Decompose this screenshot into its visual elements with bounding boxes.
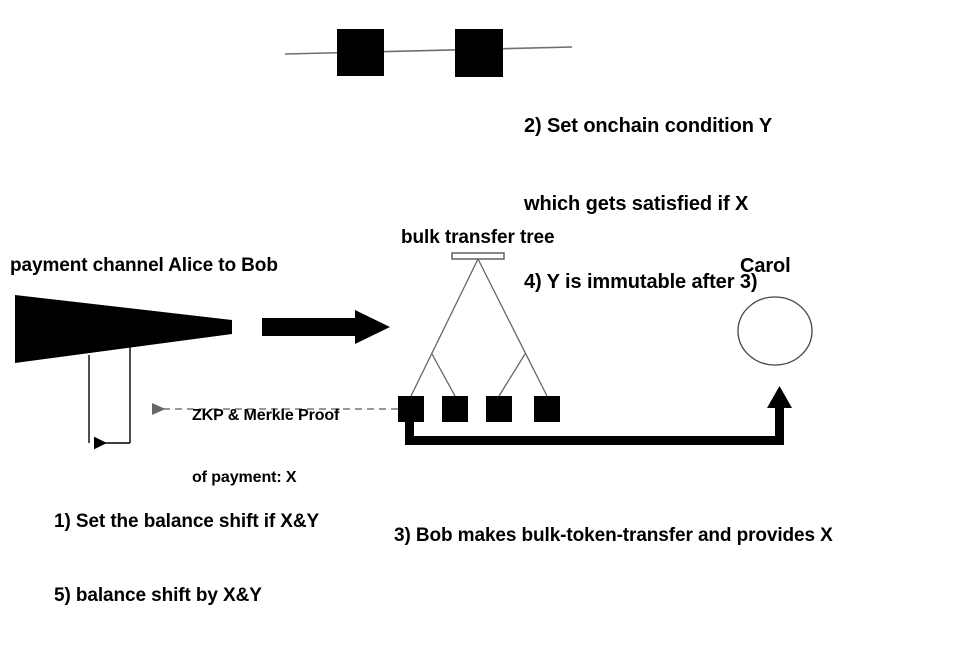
zkp-label-line-1: ZKP & Merkle Proof xyxy=(192,406,339,427)
balance-shift-note: 1) Set the balance shift if X&Y 5) balan… xyxy=(54,461,319,659)
balance-shift-bracket xyxy=(89,347,130,443)
onchain-note-line-1: 2) Set onchain condition Y xyxy=(524,113,772,139)
tree-edge-right-inner xyxy=(499,354,525,396)
tree-leaf-4 xyxy=(534,396,560,422)
onchain-note-line-2: which gets satisfied if X xyxy=(524,191,772,217)
bulk-token-transfer-note-line-1: 3) Bob makes bulk-token-transfer and pro… xyxy=(394,524,833,549)
transfer-arrow-right xyxy=(262,310,390,344)
payment-channel-label: payment channel Alice to Bob xyxy=(10,254,278,279)
tree-leaf-3 xyxy=(486,396,512,422)
balance-shift-note-line-1: 1) Set the balance shift if X&Y xyxy=(54,510,319,535)
diagram-canvas: 2) Set onchain condition Y which gets sa… xyxy=(0,0,960,540)
transfer-arrow-group xyxy=(262,310,390,344)
tree-root-node xyxy=(452,253,504,259)
tree-leaf-1 xyxy=(398,396,424,422)
connector-horizontal-bar xyxy=(405,436,784,445)
tree-leaf-2 xyxy=(442,396,468,422)
bulk-transfer-tree-label: bulk transfer tree xyxy=(401,226,554,251)
connector-up-arrowhead xyxy=(767,386,792,408)
payment-channel-funnel xyxy=(15,295,232,363)
onchain-condition-note: 2) Set onchain condition Y which gets sa… xyxy=(524,61,772,347)
blockchain-block-2 xyxy=(455,29,503,77)
payment-channel-funnel-group xyxy=(15,295,232,363)
onchain-note-line-3: 4) Y is immutable after 3) xyxy=(524,269,772,295)
balance-shift-note-line-2: 5) balance shift by X&Y xyxy=(54,584,319,609)
blockchain-line xyxy=(285,47,572,54)
tree-edge-root-left xyxy=(411,259,478,396)
blockchain-block-1 xyxy=(337,29,384,76)
bulk-token-transfer-note: 3) Bob makes bulk-token-transfer and pro… xyxy=(394,475,833,598)
carol-label: Carol xyxy=(740,253,791,279)
tree-edge-left-inner xyxy=(432,354,455,396)
